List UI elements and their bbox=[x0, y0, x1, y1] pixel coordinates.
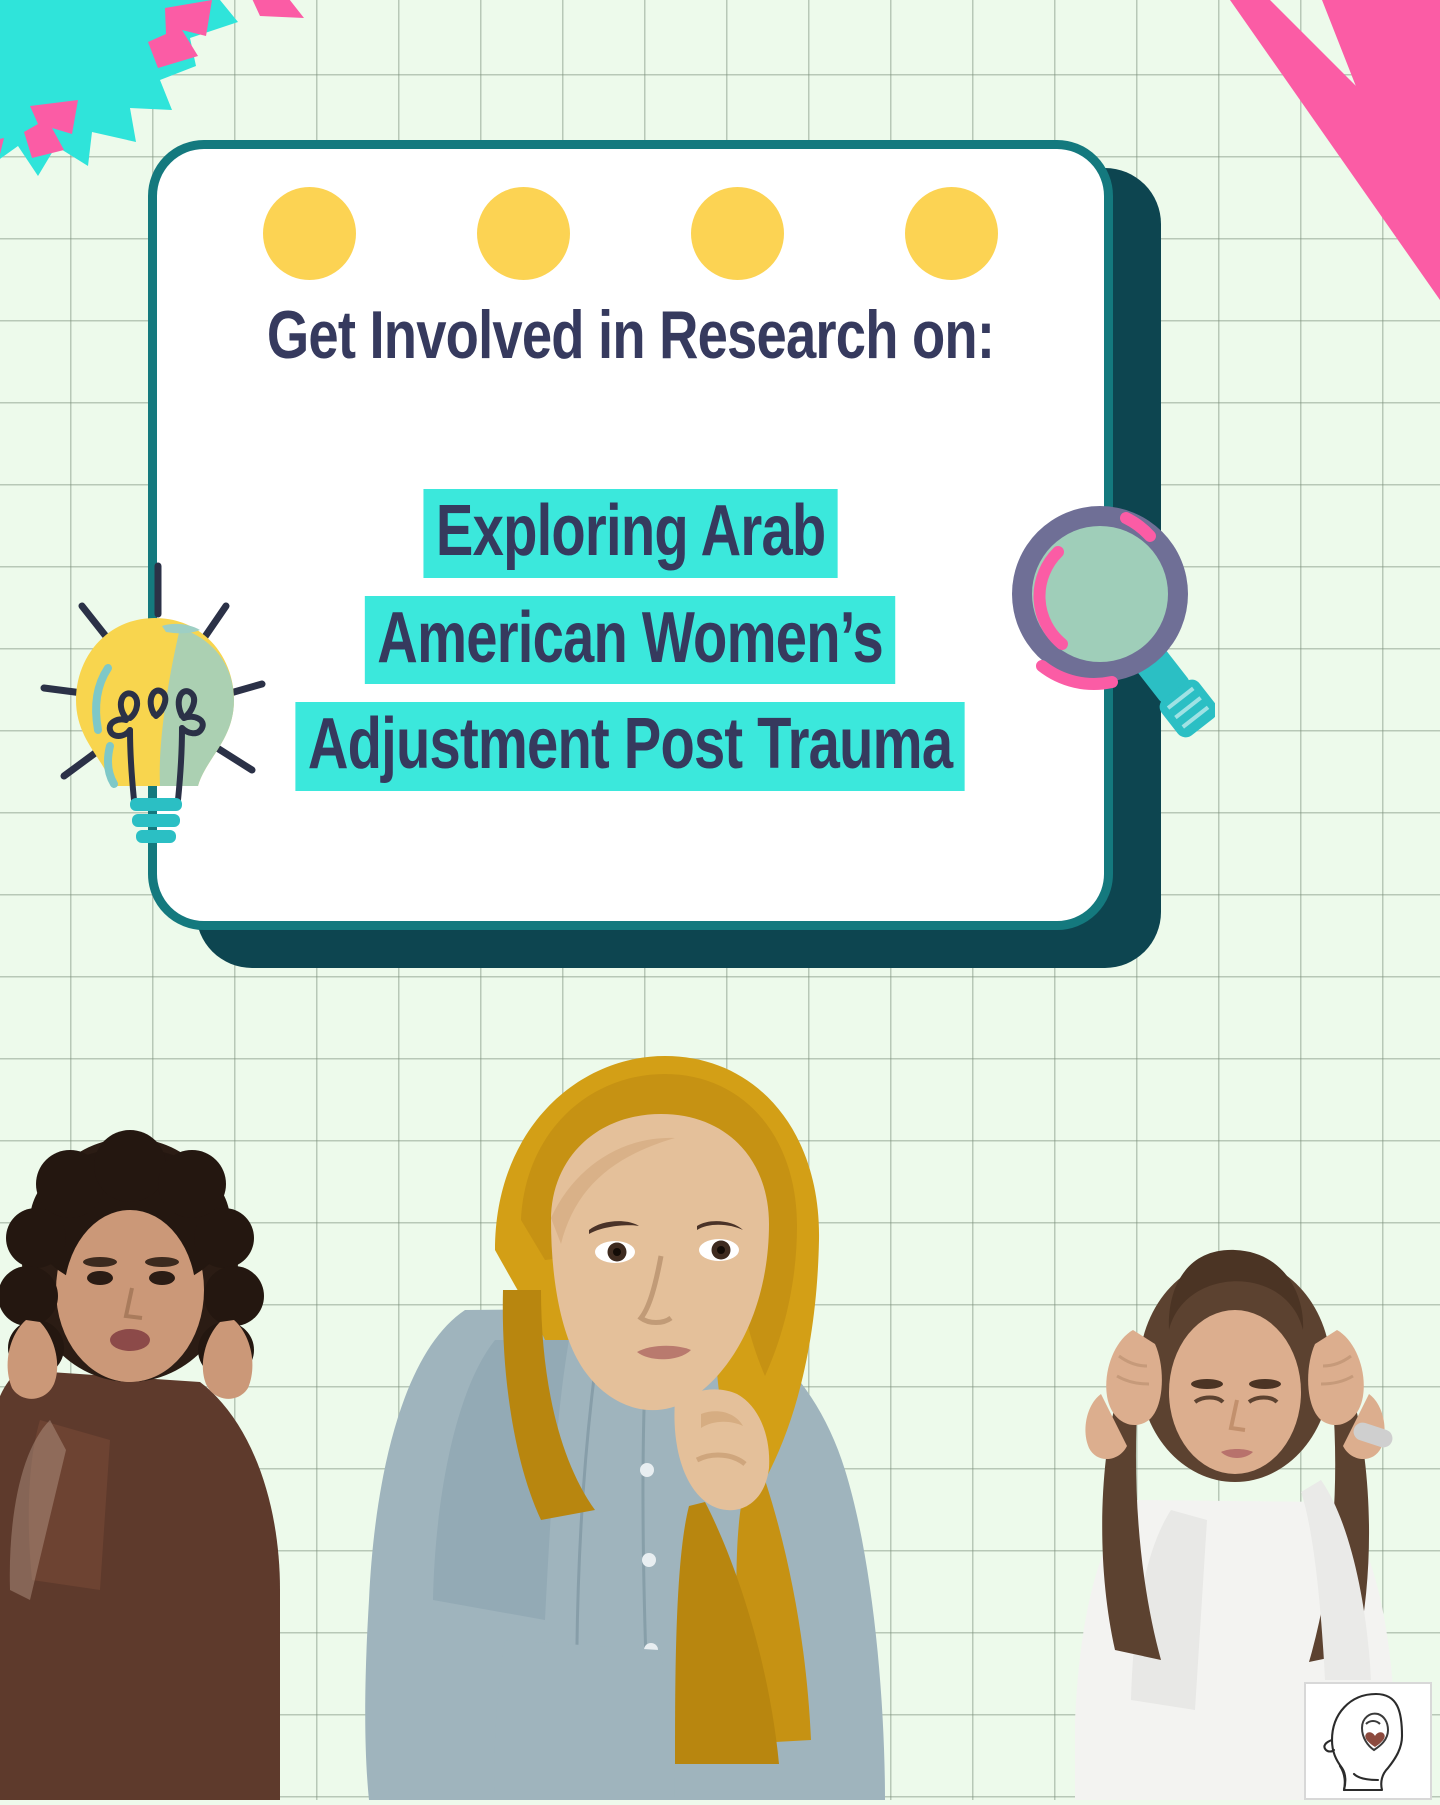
study-title-block: Exploring Arab American Women’s Adjustme… bbox=[157, 489, 1104, 809]
highlighted-text: Exploring Arab bbox=[423, 489, 837, 578]
study-title-line: American Women’s bbox=[157, 596, 1104, 685]
magnifier-icon bbox=[1000, 490, 1215, 770]
poster-card: Get Involved in Research on: Exploring A… bbox=[148, 140, 1113, 930]
photo-woman-curly-hair bbox=[0, 1120, 310, 1800]
yellow-dot bbox=[477, 187, 570, 280]
highlighted-text: Adjustment Post Trauma bbox=[296, 702, 965, 791]
study-title-line: Adjustment Post Trauma bbox=[157, 702, 1104, 791]
highlighted-text: American Women’s bbox=[365, 596, 896, 685]
yellow-dot bbox=[263, 187, 356, 280]
page-title: Get Involved in Research on: bbox=[252, 304, 1010, 367]
study-title-line: Exploring Arab bbox=[157, 489, 1104, 578]
yellow-dots-row bbox=[157, 187, 1104, 280]
yellow-dot bbox=[691, 187, 784, 280]
lightbulb-icon bbox=[30, 548, 280, 848]
photo-woman-hijab bbox=[345, 1040, 905, 1800]
yellow-dot bbox=[905, 187, 998, 280]
photo-collage bbox=[0, 1040, 1440, 1800]
brain-heart-profile-logo bbox=[1304, 1682, 1432, 1800]
